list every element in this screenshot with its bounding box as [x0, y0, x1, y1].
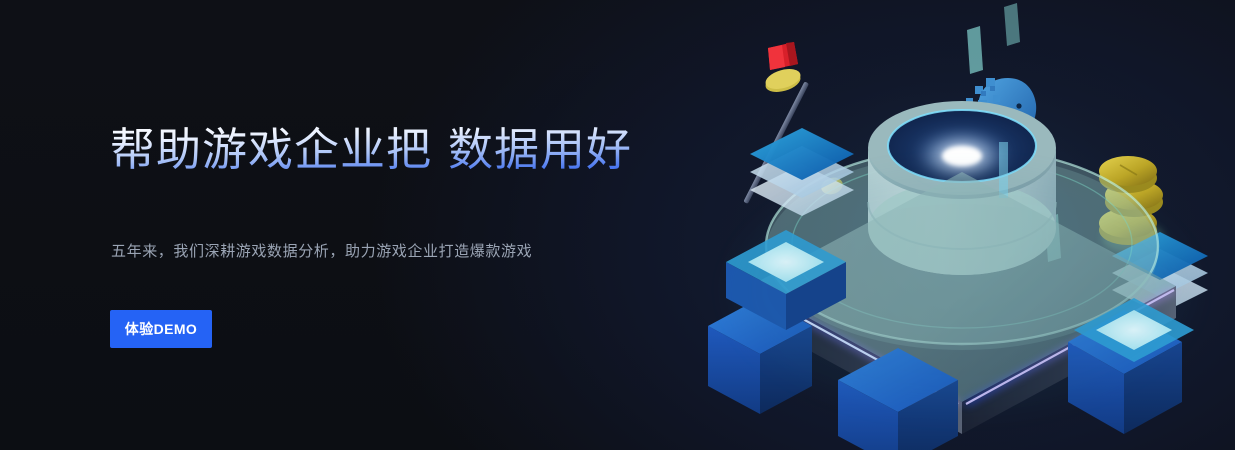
hero-banner: 帮助游戏企业把数据用好 五年来，我们深耕游戏数据分析，助力游戏企业打造爆款游戏 …	[0, 0, 1235, 450]
hero-subtitle: 五年来，我们深耕游戏数据分析，助力游戏企业打造爆款游戏	[111, 240, 532, 261]
hero-illustration	[690, 0, 1235, 450]
headline-part1: 帮助游戏企业把	[110, 124, 432, 175]
demo-button[interactable]: 体验DEMO	[110, 310, 212, 348]
haze	[732, 170, 1192, 410]
hero-copy: 帮助游戏企业把数据用好 五年来，我们深耕游戏数据分析，助力游戏企业打造爆款游戏 …	[110, 0, 730, 450]
headline-part2: 数据用好	[448, 124, 632, 175]
page-title: 帮助游戏企业把数据用好	[110, 122, 632, 178]
